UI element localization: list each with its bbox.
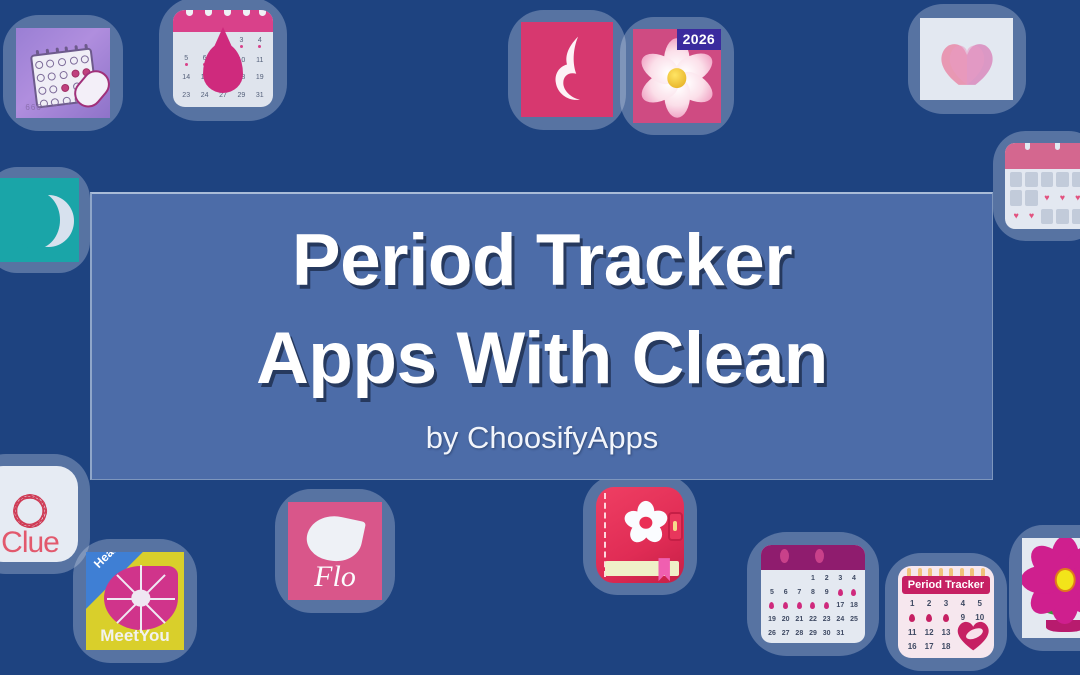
title-line-1: Period Tracker [92,212,992,310]
pink-calendar-blood-drop-app-icon[interactable]: 34 561011 14171819 2324272931 [173,10,273,107]
flo-app-icon[interactable]: Flo [288,502,382,600]
title-line-2: Apps With Clean [92,310,992,408]
calendar-with-hearts-app-icon[interactable] [1005,143,1080,229]
period-tracker-header: Period Tracker [902,576,990,593]
teal-crescent-moon-app-icon[interactable] [0,178,79,262]
icon-tile [521,22,613,117]
heart-pad-icon [954,616,992,653]
byline: by ChoosifyApps [426,420,659,456]
icon-tile: Period Tracker 12345 910 111213 161718 [898,566,994,658]
purple-calendar-pad-app-icon[interactable]: 666 [16,28,110,118]
icon-tile [1005,143,1080,229]
icon-tile: 2026 [633,29,721,123]
feather-icon [303,511,366,566]
flower-center [1055,568,1076,592]
icon-tile [920,18,1013,100]
woman-profile-icon [538,32,595,106]
icon-tile: 1234 56789 1718 19202122232425 262728293… [761,545,865,643]
diary-bookmark [658,558,669,581]
meetyou-app-icon[interactable]: Health MeetYou [86,552,184,650]
diary-flower-icon [621,499,672,547]
icon-tile [1022,538,1080,638]
purple-calendar-numbers-app-icon[interactable]: 1234 56789 1718 19202122232425 262728293… [761,545,865,643]
calendar-date-grid: 1234 56789 1718 19202122232425 262728293… [765,571,861,640]
year-badge: 2026 [677,29,721,50]
title-banner: Period Tracker Apps With Clean by Choosi… [90,192,993,480]
page-title: Period Tracker Apps With Clean [92,212,992,408]
diary-clasp [668,512,683,541]
icon-tile: Health MeetYou [86,552,184,650]
flo-wordmark: Flo [288,560,382,594]
icon-tile [0,178,79,262]
clue-wordmark: Clue [1,526,59,560]
icon-tile: Clue [0,466,78,562]
calendar-header [1005,143,1080,169]
icon-tile [596,487,684,583]
heart-date-grid [1010,172,1080,224]
flower-center [667,68,686,88]
icon-tile: 34 561011 14171819 2324272931 [173,10,273,107]
slide-canvas: 666 34 561011 14171819 2324272931 [0,0,1080,675]
clue-app-icon[interactable]: Clue [0,466,78,562]
calendar-header [761,545,865,570]
woman-face-silhouette-app-icon[interactable] [521,22,613,117]
meetyou-wordmark: MeetYou [86,626,184,646]
overlapping-hearts-app-icon[interactable] [920,18,1013,100]
magenta-flower-plant-app-icon[interactable] [1022,538,1080,638]
period-tracker-calendar-app-icon[interactable]: Period Tracker 12345 910 111213 161718 [898,566,994,658]
icon-tile: 666 [16,28,110,118]
pink-diary-flower-app-icon[interactable] [596,487,684,583]
icon-glyph-text: 666 [25,103,41,112]
icon-tile: Flo [288,502,382,600]
flower-2026-app-icon[interactable]: 2026 [633,29,721,123]
hearts-graphic [933,34,1000,86]
crescent-moon-icon [23,195,74,247]
pomelo-fruit-icon [104,566,178,631]
